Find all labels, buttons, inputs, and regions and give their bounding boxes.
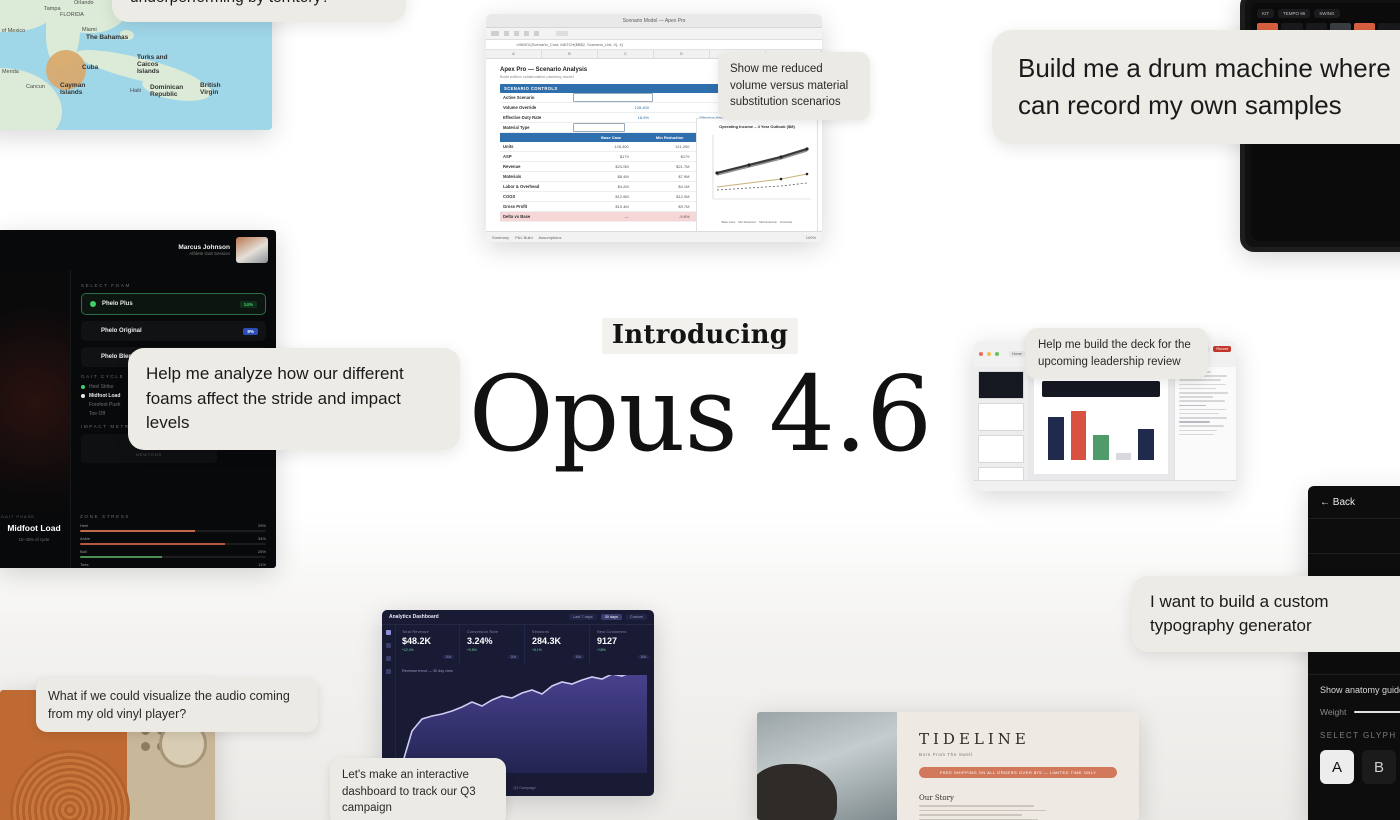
map-label: Cuba (82, 64, 98, 71)
row-label: Units (500, 144, 573, 149)
dashboard-title: Analytics Dashboard (389, 614, 439, 620)
zone-row: Ball 26% (80, 549, 266, 558)
toolbar-icon[interactable] (514, 31, 519, 36)
map-label: British Virgin (200, 82, 228, 96)
kpi-delta: +18% (597, 648, 647, 652)
cell[interactable]: 121,200 (634, 144, 695, 149)
prompt-bubble-vinyl[interactable]: What if we could visualize the audio com… (36, 678, 318, 732)
sidebar-item-settings[interactable] (386, 669, 391, 674)
kit-chip[interactable]: KIT (1257, 9, 1274, 18)
weight-slider[interactable] (1354, 711, 1400, 713)
spreadsheet-toolbar[interactable] (486, 28, 822, 40)
kpi-label: Sessions (532, 630, 582, 634)
cell[interactable]: $8.4M (573, 174, 634, 179)
vinyl-disc (10, 750, 130, 820)
cell[interactable]: $179 (634, 154, 695, 159)
promo-banner[interactable]: FREE SHIPPING ON ALL ORDERS OVER $75 — L… (919, 767, 1117, 778)
kpi-delta: +0.8% (467, 648, 517, 652)
site-content: TIDELINE Born From The Swell FREE SHIPPI… (897, 712, 1139, 820)
cell[interactable]: $9.7M (634, 204, 695, 209)
zone-value: 11% (258, 562, 266, 567)
sidebar-item-audience[interactable] (386, 656, 391, 661)
zone-bar (80, 543, 266, 546)
column-header[interactable]: D (654, 50, 710, 58)
kpi-card[interactable]: Sessions 284.3K +6.1% 30d (525, 624, 590, 664)
row-label: COGS (500, 194, 573, 199)
app-header: Marcus Johnson Athlete Gait Session (0, 230, 276, 270)
zone-stress-label: ZONE STRESS (80, 514, 266, 519)
weight-label: Weight (1320, 707, 1346, 717)
sheet-tab[interactable]: P&L Build (515, 235, 532, 240)
foam-option[interactable]: Phelo Plus 14% (81, 293, 266, 315)
zone-bar (80, 530, 266, 533)
scenario-select[interactable] (573, 93, 653, 102)
row-label: Materials (500, 174, 573, 179)
sheet-tab[interactable]: Summary (492, 235, 509, 240)
row-label: Effective Duty Rate (500, 115, 573, 120)
map-label: Haiti (130, 88, 141, 94)
selected-dot-icon (90, 301, 96, 307)
zone-name: Ankle (80, 536, 90, 541)
chart-legend: Base Case Min Reduction Mid Reduction Do… (697, 220, 817, 224)
legend-item: Downside (780, 220, 792, 224)
tab-custom[interactable]: Custom (626, 614, 647, 620)
toolbar-icon[interactable] (556, 31, 568, 36)
foam-badge: 14% (240, 301, 257, 308)
map-label: Tampa (44, 6, 61, 12)
kpi-card[interactable]: Conversion Rate 3.24% +0.8% 30d (460, 624, 525, 664)
cell[interactable]: $4.1M (634, 184, 695, 189)
hero-block: Introducing Opus 4.6 (0, 318, 1400, 469)
legend-item: Mid Reduction (759, 220, 777, 224)
rock-shape (757, 764, 837, 820)
page-title: Opus 4.6 (0, 360, 1400, 469)
avatar[interactable] (236, 237, 268, 263)
map-label: FLORIDA (60, 12, 84, 18)
cell[interactable]: $10.4M (573, 204, 634, 209)
cell[interactable]: $21.7M (634, 164, 695, 169)
map-label: Gulf of Mexico (0, 28, 20, 34)
kpi-value: 284.3K (532, 636, 582, 646)
row-label: Revenue (500, 164, 573, 169)
gait-phase-name: Midfoot Load (1, 524, 67, 534)
col-head: Base Case (582, 133, 641, 142)
prompt-bubble-drum[interactable]: Build me a drum machine where I can reco… (992, 30, 1400, 144)
map-label: Turks and Caicos Islands (137, 54, 171, 75)
toolbar-icon[interactable] (524, 31, 529, 36)
map-label: Cancun (26, 84, 45, 90)
foam-name: Phelo Plus (102, 301, 234, 307)
tempo-chip[interactable]: TEMPO 96 (1278, 9, 1310, 18)
kpi-chip: 30d (443, 655, 454, 659)
row-value[interactable]: 128,400 (573, 105, 654, 110)
hero-photo (757, 712, 897, 820)
map-label: Dominican Republic (150, 84, 184, 98)
col-head: Min Reduction (640, 133, 699, 142)
cell[interactable]: -9.8% (634, 214, 695, 219)
sheet-tab[interactable]: Assumptions (539, 235, 562, 240)
column-header[interactable]: C (598, 50, 654, 58)
prompt-bubble-spreadsheet[interactable]: Show me reduced volume versus material s… (718, 52, 870, 120)
zone-value: 34% (258, 536, 266, 541)
cell[interactable]: — (573, 214, 634, 219)
formula-bar[interactable]: =INDEX(Scenario_Cost, MATCH($B$2, Scenar… (486, 40, 822, 50)
cell[interactable]: $7.9M (634, 174, 695, 179)
deck-status-bar (974, 480, 1236, 491)
row-label: Labor & Overhead (500, 184, 573, 189)
zone-row: Ankle 34% (80, 536, 266, 545)
cell[interactable]: $12.6M (573, 194, 634, 199)
kpi-label: New Customers (597, 630, 647, 634)
tideline-website-card[interactable]: TIDELINE Born From The Swell FREE SHIPPI… (757, 712, 1139, 820)
hero-canvas: New Orleans Jacksonville Orlando Tampa F… (0, 0, 1400, 820)
column-header[interactable]: A (486, 50, 542, 58)
zone-bar (80, 556, 266, 559)
preview-tab[interactable]: Preview (1308, 519, 1400, 554)
tab-last-7-days[interactable]: Last 7 days (569, 614, 596, 620)
cell[interactable]: 128,400 (573, 144, 634, 149)
row-label: Delta vs Base (500, 214, 573, 219)
row-label: Active Scenario (500, 95, 573, 100)
gait-phase-label: GAIT PHASE (1, 514, 67, 519)
cell[interactable]: $4.2M (573, 184, 634, 189)
map-label: The Bahamas (86, 34, 120, 41)
sidebar-item-reports[interactable] (386, 643, 391, 648)
anatomy-toggle[interactable]: Show anatomy guides (1308, 675, 1400, 705)
tab-30-days[interactable]: 30 days (601, 614, 622, 620)
spreadsheet-card[interactable]: Scenario Model — Apex Pro =INDEX(Scenari… (486, 14, 822, 242)
sidebar-item-home[interactable] (386, 630, 391, 635)
operating-income-chart[interactable]: Operating Income – 4 Year Outlook ($M) B… (696, 118, 818, 232)
kpi-value: $48.2K (402, 636, 452, 646)
row-value[interactable]: 18.5% (573, 115, 654, 120)
status-zoom: 100% (806, 235, 816, 240)
page-eyebrow: Introducing (602, 318, 798, 354)
zone-row: Heel 29% (80, 523, 266, 532)
kpi-card[interactable]: Total Revenue $48.2K +12.4% 30d (395, 624, 460, 664)
chart-label: Revenue trend — 30 day view (402, 669, 647, 673)
kpi-label: Total Revenue (402, 630, 452, 634)
map-label: Merida (2, 69, 19, 75)
kpi-chip: 30d (638, 655, 649, 659)
spreadsheet-window-title: Scenario Model — Apex Pro (486, 14, 822, 28)
kpi-value: 9127 (597, 636, 647, 646)
gait-phase-range: 15–40% of cycle (1, 537, 67, 542)
user-subtitle: Athlete Gait Session (178, 251, 230, 256)
glyph-button-b[interactable]: B (1362, 750, 1396, 784)
swing-chip[interactable]: SWING (1314, 9, 1339, 18)
section-heading: Our Story (919, 794, 1117, 802)
row-label: Gross Profit (500, 204, 573, 209)
back-button[interactable]: ← Back (1308, 486, 1400, 519)
kpi-label: Conversion Rate (467, 630, 517, 634)
user-name: Marcus Johnson (178, 244, 230, 251)
zone-value: 26% (258, 549, 266, 554)
legend-item: Min Reduction (738, 220, 756, 224)
zone-name: Heel (80, 523, 88, 528)
glyph-picker[interactable]: A B C (1308, 744, 1400, 790)
kpi-card[interactable]: New Customers 9127 +18% 30d (590, 624, 654, 664)
map-label: Cayman Islands (60, 82, 94, 96)
cell[interactable]: $23.0M (573, 164, 634, 169)
zone-name: Ball (80, 549, 87, 554)
toolbar-icon[interactable] (534, 31, 539, 36)
spreadsheet-status-bar: Summary P&L Build Assumptions 100% (486, 231, 822, 242)
glyph-button-a[interactable]: A (1320, 750, 1354, 784)
row-label: Material Type (500, 125, 573, 130)
prompt-bubble-typography[interactable]: I want to build a custom typography gene… (1132, 576, 1400, 652)
kpi-row: Total Revenue $48.2K +12.4% 30d Conversi… (395, 624, 654, 664)
kpi-delta: +6.1% (532, 648, 582, 652)
zone-stress-panel: ZONE STRESS Heel 29% Ankle 34% Ball 26% … (70, 510, 276, 568)
map-label: Orlando (74, 0, 94, 6)
cell[interactable]: $179 (573, 154, 634, 159)
toolbar-icon[interactable] (504, 31, 509, 36)
zone-name: Toes (80, 562, 88, 567)
col-head (500, 133, 582, 142)
toolbar-icon[interactable] (491, 31, 499, 36)
row-label: ASP (500, 154, 573, 159)
weight-slider-row[interactable]: Weight (1308, 705, 1400, 727)
range-tabs[interactable]: Last 7 days 30 days Custom (569, 614, 647, 620)
typography-tool-card[interactable]: ← Back Preview baseline Show anatomy gui… (1308, 486, 1400, 820)
column-header[interactable]: B (542, 50, 598, 58)
row-label: Volume Override (500, 105, 573, 110)
kpi-chip: 30d (508, 655, 519, 659)
material-select[interactable] (573, 123, 625, 132)
user-info: Marcus Johnson Athlete Gait Session (178, 244, 230, 256)
zone-row: Toes 11% (80, 562, 266, 568)
brand-name: TIDELINE (919, 730, 1117, 748)
select-foam-label: SELECT FOAM (81, 283, 266, 288)
kpi-chip: 30d (573, 655, 584, 659)
prompt-bubble-territory[interactable]: underperforming by territory? (112, 0, 406, 22)
select-glyph-label: SELECT GLYPH (1308, 727, 1400, 744)
kpi-delta: +12.4% (402, 648, 452, 652)
brand-subtitle: Born From The Swell (919, 752, 1117, 757)
map-label: Miami (82, 27, 97, 33)
dashboard-header: Analytics Dashboard Last 7 days 30 days … (382, 610, 654, 625)
prompt-bubble-dashboard[interactable]: Let's make an interactive dashboard to t… (330, 758, 506, 820)
cell[interactable]: $12.0M (634, 194, 695, 199)
legend-item: Base Case (722, 220, 736, 224)
chart-svg (697, 129, 817, 215)
kpi-value: 3.24% (467, 636, 517, 646)
gait-phase-summary: GAIT PHASE Midfoot Load 15–40% of cycle (0, 510, 70, 568)
drum-toolbar[interactable]: KIT TEMPO 96 SWING REC (1257, 9, 1400, 18)
zone-value: 29% (258, 523, 266, 528)
